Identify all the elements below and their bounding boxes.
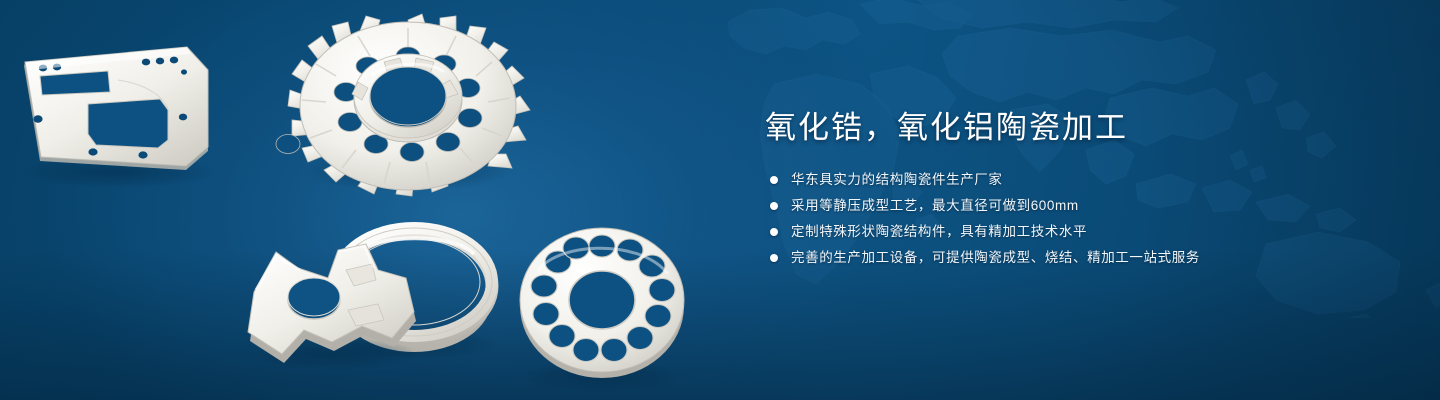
feature-list-item: 采用等静压成型工艺，最大直径可做到600mm bbox=[770, 197, 1385, 215]
bullet-dot-icon bbox=[770, 202, 778, 210]
promo-banner: 氧化锆，氧化铝陶瓷加工 华东具实力的结构陶瓷件生产厂家 采用等静压成型工艺，最大… bbox=[0, 0, 1440, 400]
ceramic-impeller-part bbox=[276, 14, 530, 196]
banner-copy: 氧化锆，氧化铝陶瓷加工 华东具实力的结构陶瓷件生产厂家 采用等静压成型工艺，最大… bbox=[765, 108, 1385, 275]
bullet-dot-icon bbox=[770, 254, 778, 262]
feature-list-item: 定制特殊形状陶瓷结构件，具有精加工技术水平 bbox=[770, 223, 1385, 241]
feature-text: 定制特殊形状陶瓷结构件，具有精加工技术水平 bbox=[791, 223, 1087, 241]
feature-list-item: 华东具实力的结构陶瓷件生产厂家 bbox=[770, 171, 1385, 189]
ceramic-holed-disc-part bbox=[520, 228, 684, 392]
feature-text: 华东具实力的结构陶瓷件生产厂家 bbox=[791, 171, 1003, 189]
ceramic-plate-part bbox=[20, 47, 216, 188]
bullet-dot-icon bbox=[770, 176, 778, 184]
feature-list: 华东具实力的结构陶瓷件生产厂家 采用等静压成型工艺，最大直径可做到600mm 定… bbox=[770, 171, 1385, 267]
feature-text: 完善的生产加工设备，可提供陶瓷成型、烧结、精加工一站式服务 bbox=[791, 249, 1200, 267]
feature-text: 采用等静压成型工艺，最大直径可做到600mm bbox=[791, 197, 1079, 215]
bullet-dot-icon bbox=[770, 228, 778, 236]
ceramic-cross-part bbox=[248, 244, 420, 370]
banner-headline: 氧化锆，氧化铝陶瓷加工 bbox=[765, 108, 1385, 148]
ceramic-products-image bbox=[0, 0, 720, 400]
feature-list-item: 完善的生产加工设备，可提供陶瓷成型、烧结、精加工一站式服务 bbox=[770, 249, 1385, 267]
